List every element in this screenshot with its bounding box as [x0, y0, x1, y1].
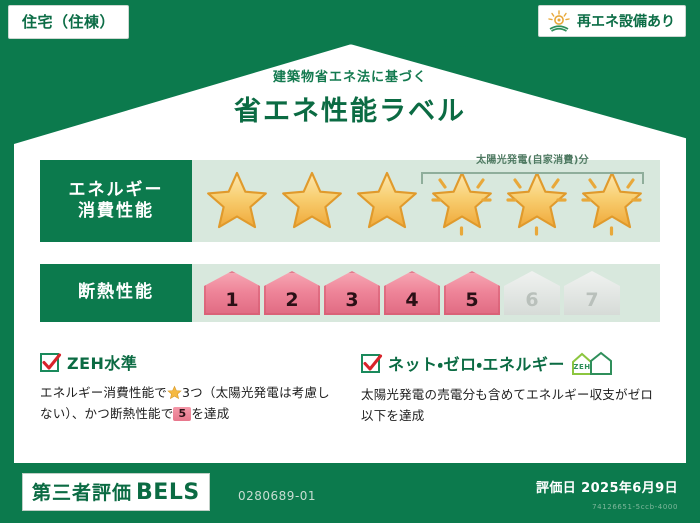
sun-icon: [547, 10, 571, 32]
star-rating: 太陽光発電(自家消費)分: [192, 166, 660, 236]
bels-number: 0280689-01: [238, 489, 316, 503]
criterion-zeh: ZEH水準 エネルギー消費性能で3つ（太陽光発電は考慮しない）、かつ断熱性能で5…: [40, 350, 339, 426]
insulation-performance-value: 1234567: [192, 264, 660, 322]
building-type-tab: 住宅（住棟）: [8, 5, 129, 39]
net-zero-heading: ネット・ゼロ・エネルギー ZEH: [361, 350, 660, 376]
star-icon: [281, 171, 343, 231]
zeh-checkbox: [40, 353, 59, 372]
check-icon: [362, 353, 383, 374]
renewable-badge-label: 再エネ設備あり: [577, 11, 675, 31]
net-zero-title-text: ネット・ゼロ・エネルギー: [388, 351, 565, 375]
renewable-energy-badge: 再エネ設備あり: [538, 5, 686, 37]
insulation-level-scale: 1234567: [192, 271, 620, 315]
energy-performance-row: エネルギー 消費性能 太陽光発電(自家消費)分: [40, 160, 660, 242]
net-zero-checkbox: [361, 354, 380, 373]
insulation-level-1: 1: [204, 271, 260, 315]
insulation-performance-label: 断熱性能: [40, 264, 192, 322]
check-icon: [41, 352, 62, 373]
insulation-level-3: 3: [324, 271, 380, 315]
star-icon: [206, 171, 268, 231]
zeh-text-part3: を達成: [191, 406, 229, 421]
insulation-level-6: 6: [504, 271, 560, 315]
title-subtitle: 建築物省エネ法に基づく: [0, 66, 700, 85]
bels-badge: 第三者評価 BELS: [22, 473, 210, 511]
solar-bracket: [421, 172, 644, 184]
solar-caption: 太陽光発電(自家消費)分: [421, 151, 644, 166]
criteria-section: ZEH水準 エネルギー消費性能で3つ（太陽光発電は考慮しない）、かつ断熱性能で5…: [40, 350, 660, 426]
title-block: 建築物省エネ法に基づく 省エネ性能ラベル: [0, 66, 700, 128]
net-zero-description: 太陽光発電の売電分も含めてエネルギー収支がゼロ以下を達成: [361, 385, 660, 426]
star-base: [275, 166, 348, 236]
zeh-title: ZEH水準: [67, 350, 137, 374]
zeh-house-logo-icon: ZEH: [569, 350, 615, 376]
evaluation-date-label: 評価日: [536, 481, 576, 496]
energy-label-line2: 消費性能: [78, 201, 154, 222]
star-base: [200, 166, 273, 236]
insulation-performance-row: 断熱性能 1234567: [40, 264, 660, 322]
star-base: [350, 166, 423, 236]
bels-jp-label: 第三者評価: [32, 478, 132, 505]
insulation-level-2: 2: [264, 271, 320, 315]
title-main: 省エネ性能ラベル: [0, 89, 700, 128]
svg-text:ZEH: ZEH: [573, 363, 590, 371]
net-zero-title: ネット・ゼロ・エネルギー ZEH: [388, 350, 615, 376]
energy-label-line1: エネルギー: [69, 180, 164, 201]
evaluation-date: 評価日 2025年6月9日: [536, 477, 678, 496]
bels-en-label: BELS: [136, 480, 200, 505]
energy-performance-value: 太陽光発電(自家消費)分: [192, 160, 660, 242]
insulation-level-7: 7: [564, 271, 620, 315]
evaluation-date-value: 2025年6月9日: [581, 481, 678, 496]
building-type-label: 住宅（住棟）: [22, 13, 115, 31]
zeh-text-part1: エネルギー消費性能で: [40, 385, 167, 400]
zeh-heading: ZEH水準: [40, 350, 339, 374]
energy-performance-label: エネルギー 消費性能: [40, 160, 192, 242]
insulation-level-5: 5: [444, 271, 500, 315]
zeh-level-badge: 5: [173, 407, 191, 421]
criterion-net-zero: ネット・ゼロ・エネルギー ZEH 太陽光発電の売電分も含めてエネルギー収支がゼロ…: [361, 350, 660, 426]
evaluation-id: 74126651-5ccb-4000: [592, 503, 678, 511]
star-icon: [356, 171, 418, 231]
inline-star-icon: [167, 385, 182, 400]
zeh-description: エネルギー消費性能で3つ（太陽光発電は考慮しない）、かつ断熱性能で5を達成: [40, 383, 339, 424]
energy-performance-label: 住宅（住棟） 再エネ設備あり 建築物省エネ法に基づく 省エネ性能ラベル: [0, 0, 700, 523]
insulation-label-text: 断熱性能: [78, 282, 154, 303]
insulation-level-4: 4: [384, 271, 440, 315]
